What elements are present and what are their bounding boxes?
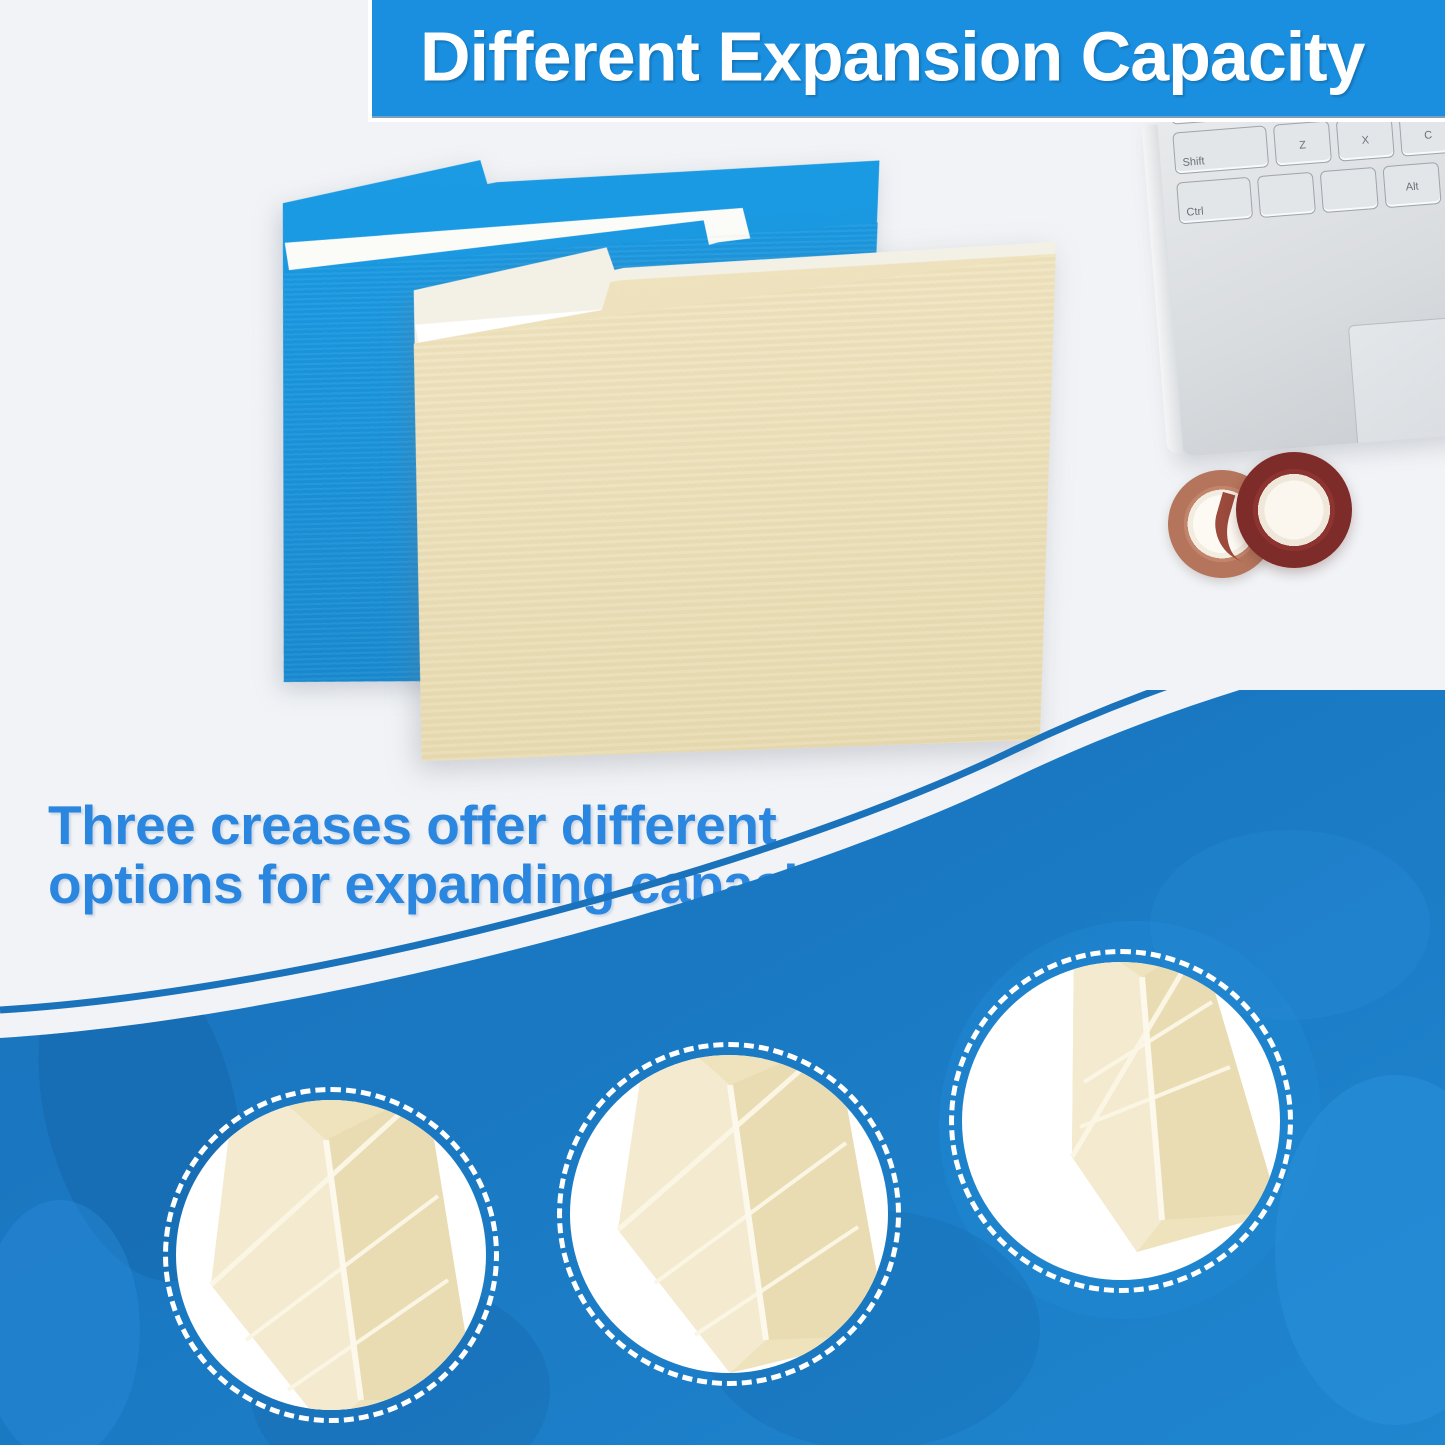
key-ctrl: Ctrl bbox=[1176, 177, 1253, 225]
laptop: Caps A S D F Shift Z X C V Ctrl bbox=[1155, 92, 1445, 457]
key-z: Z bbox=[1273, 120, 1332, 166]
key-label: Alt bbox=[1385, 179, 1440, 195]
key-label: Ctrl bbox=[1186, 205, 1204, 218]
header-banner-frame: Different Expansion Capacity bbox=[368, 0, 1445, 122]
key-shift: Shift bbox=[1172, 125, 1269, 174]
tape-roll-dark bbox=[1236, 452, 1352, 568]
key-label: Shift bbox=[1182, 155, 1205, 169]
key-label: C bbox=[1401, 128, 1445, 144]
crease-closeup-2-dashed-border bbox=[557, 1042, 901, 1386]
page-title: Different Expansion Capacity bbox=[420, 16, 1364, 96]
key-label: X bbox=[1338, 132, 1393, 148]
crease-closeup-1-dashed-border bbox=[163, 1087, 499, 1423]
key-win bbox=[1320, 167, 1379, 213]
product-infographic: Caps A S D F Shift Z X C V Ctrl bbox=[0, 0, 1445, 1445]
crease-closeup-3-dashed-border bbox=[949, 949, 1293, 1293]
laptop-trackpad bbox=[1348, 312, 1445, 457]
laptop-body: Caps A S D F Shift Z X C V Ctrl bbox=[1155, 92, 1445, 457]
key-fn bbox=[1257, 172, 1316, 218]
key-alt: Alt bbox=[1382, 162, 1441, 208]
header-banner: Different Expansion Capacity bbox=[372, 0, 1445, 116]
key-x: X bbox=[1336, 115, 1395, 161]
key-label: Z bbox=[1275, 137, 1330, 153]
